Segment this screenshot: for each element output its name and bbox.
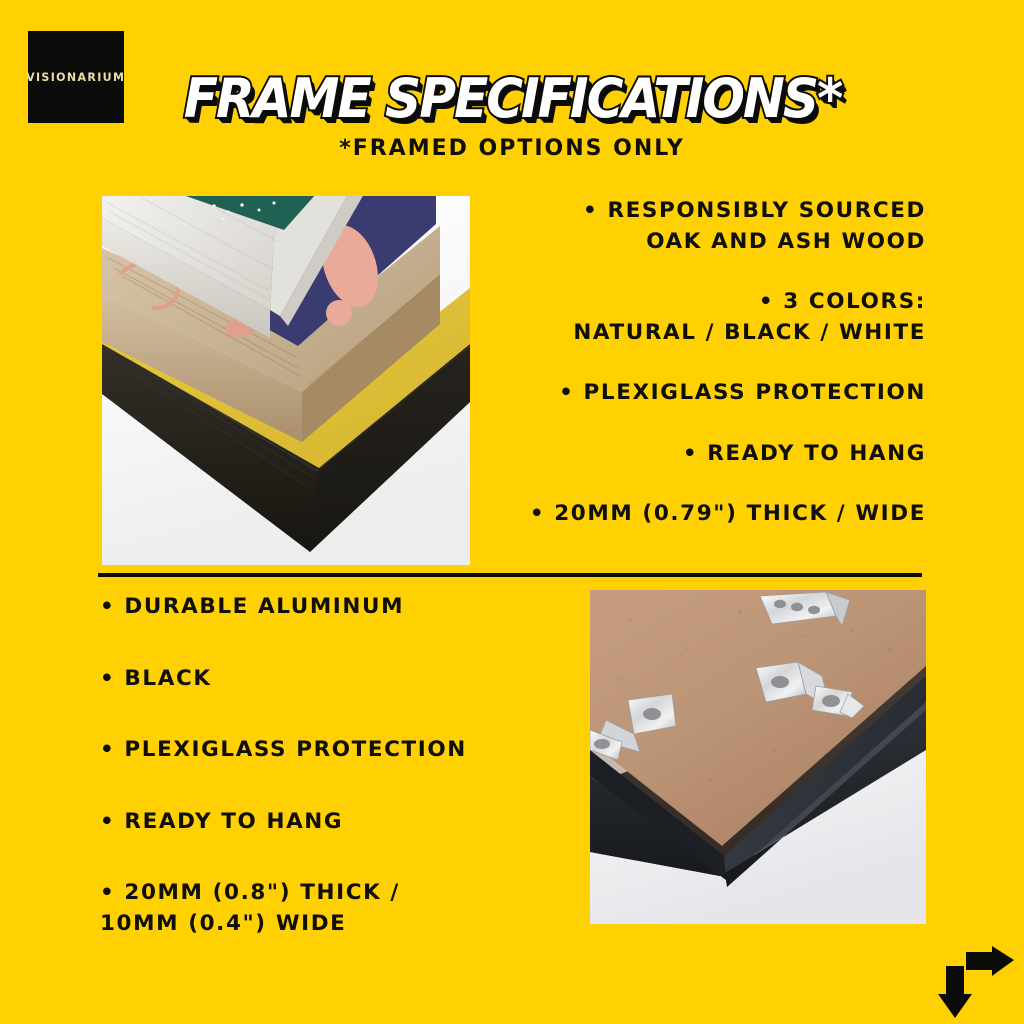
wood-frame-spec-list: • RESPONSIBLY SOURCED OAK AND ASH WOOD •… <box>480 196 926 530</box>
list-item: • READY TO HANG <box>480 439 926 470</box>
section-divider <box>98 573 922 577</box>
footer-arrows[interactable] <box>934 946 1014 1018</box>
page-subtitle-wrap: *FRAMED OPTIONS ONLY <box>0 136 1024 161</box>
list-item: • 20MM (0.8") THICK / 10MM (0.4") WIDE <box>100 878 540 939</box>
arrow-right-icon[interactable] <box>966 946 1014 976</box>
list-item: • READY TO HANG <box>100 807 540 838</box>
page-title-wrap: FRAME SPECIFICATIONS* <box>0 72 1024 126</box>
list-item: • PLEXIGLASS PROTECTION <box>100 735 540 766</box>
arrow-down-icon[interactable] <box>938 966 972 1018</box>
list-item: • 20MM (0.79") THICK / WIDE <box>480 499 926 530</box>
list-item: • RESPONSIBLY SOURCED OAK AND ASH WOOD <box>480 196 926 257</box>
aluminum-frame-spec-list: • DURABLE ALUMINUM • BLACK • PLEXIGLASS … <box>100 592 540 939</box>
list-item: • DURABLE ALUMINUM <box>100 592 540 623</box>
list-item: • PLEXIGLASS PROTECTION <box>480 378 926 409</box>
list-item: • BLACK <box>100 664 540 695</box>
aluminum-frame-photo <box>590 590 926 924</box>
aluminum-frame-illustration <box>590 590 926 924</box>
poster-canvas: VISIONARIUM FRAME SPECIFICATIONS* *FRAME… <box>0 0 1024 1024</box>
wood-frames-illustration <box>102 196 470 565</box>
page-title: FRAME SPECIFICATIONS* <box>183 72 840 126</box>
page-subtitle: *FRAMED OPTIONS ONLY <box>339 136 685 161</box>
wood-frames-photo <box>102 196 470 565</box>
list-item: • 3 COLORS: NATURAL / BLACK / WHITE <box>480 287 926 348</box>
